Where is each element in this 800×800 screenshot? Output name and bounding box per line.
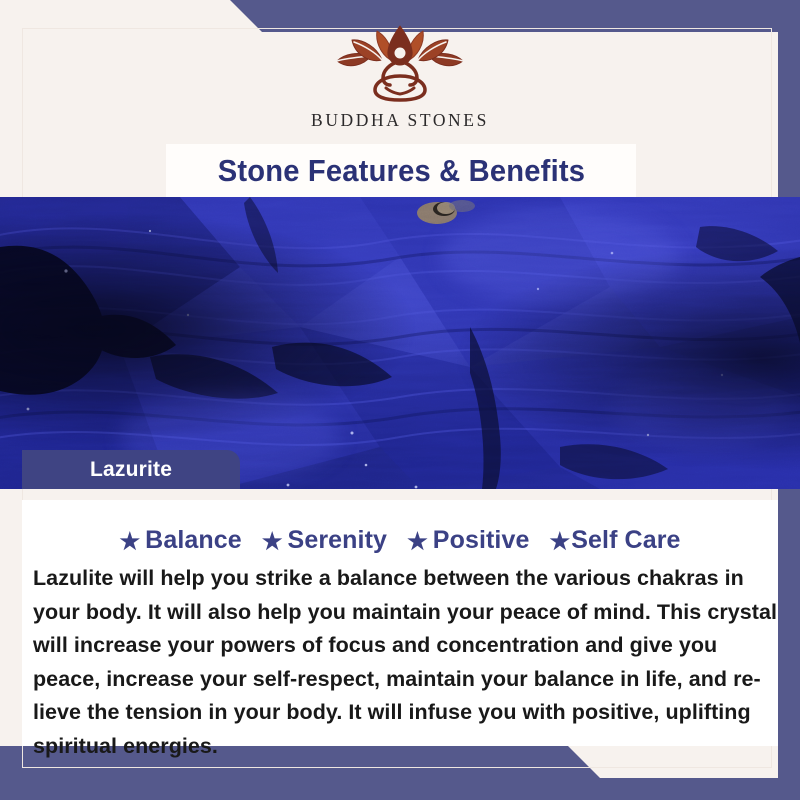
stone-description-text: Lazulite will help you strike a balance … — [33, 562, 767, 763]
stone-photo-image — [0, 197, 800, 489]
page-title-banner: Stone Features & Benefits — [166, 144, 636, 198]
description-line: spiritual energies. — [33, 730, 767, 764]
star-icon: ★ — [262, 528, 283, 554]
brand-header: BUDDHA STONES — [0, 0, 800, 152]
description-line: peace, increase your self-respect, maint… — [33, 663, 767, 697]
keyword-label: Positive — [433, 526, 530, 554]
lotus-meditation-logo-icon — [325, 22, 475, 104]
star-icon: ★ — [119, 528, 140, 554]
keyword-item-serenity: ★Serenity — [262, 526, 394, 554]
star-icon: ★ — [407, 528, 428, 554]
keyword-label: Balance — [145, 526, 242, 554]
description-line: Lazulite will help you strike a balance … — [33, 562, 767, 596]
description-line: lieve the tension in your body. It will … — [33, 696, 767, 730]
keyword-item-positive: ★Positive — [407, 526, 536, 554]
description-line: your body. It will also help you maintai… — [33, 596, 767, 630]
keyword-item-self-care: ★Self Care — [550, 526, 681, 554]
stone-photo — [0, 197, 800, 489]
stone-name-tag: Lazurite — [22, 450, 240, 489]
stone-name: Lazurite — [90, 458, 172, 482]
page-title: Stone Features & Benefits — [217, 153, 584, 189]
brand-name: BUDDHA STONES — [0, 110, 800, 131]
stone-info-card: BUDDHA STONES Stone Features & Benefits — [0, 0, 800, 800]
keyword-label: Serenity — [288, 526, 387, 554]
keyword-label: Self Care — [571, 526, 680, 554]
stone-description-panel: ★Balance ★Serenity ★Positive ★Self Care … — [22, 500, 778, 746]
brand-logo: BUDDHA STONES — [0, 22, 800, 131]
keyword-list: ★Balance ★Serenity ★Positive ★Self Care — [22, 526, 778, 555]
keyword-item-balance: ★Balance — [119, 526, 248, 554]
star-icon: ★ — [550, 528, 571, 554]
description-line: will increase your powers of focus and c… — [33, 629, 767, 663]
